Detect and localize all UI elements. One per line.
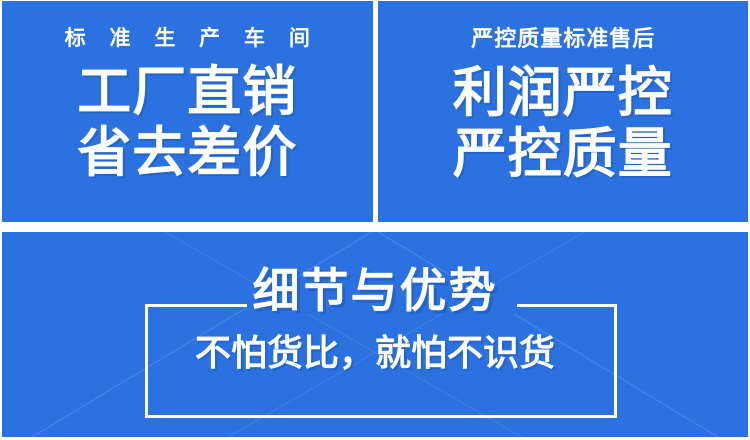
- panel-quality-control: 严控质量标准售后 利润严控 严控质量: [378, 1, 749, 222]
- left-panel-eyebrow: 标 准 生 产 车 间: [56, 28, 319, 49]
- left-panel-headline-line1: 工厂直销: [77, 65, 297, 120]
- promo-banner: 标 准 生 产 车 间 工厂直销 省去差价 严控质量标准售后 利润严控 严控质量…: [0, 0, 750, 440]
- left-panel-headline-line2: 省去差价: [77, 126, 297, 181]
- right-panel-headline-line1: 利润严控: [453, 66, 673, 121]
- panel-details-advantages: 细节与优势 不怕货比，就怕不识货: [2, 232, 748, 437]
- bottom-panel-title: 细节与优势: [2, 267, 748, 314]
- top-panel-row: 标 准 生 产 车 间 工厂直销 省去差价 严控质量标准售后 利润严控 严控质量: [2, 1, 748, 222]
- right-panel-eyebrow: 严控质量标准售后: [470, 28, 655, 50]
- bottom-panel-subtitle: 不怕货比，就怕不识货: [2, 335, 748, 371]
- panel-factory-direct: 标 准 生 产 车 间 工厂直销 省去差价: [2, 1, 373, 222]
- right-panel-headline-line2: 严控质量: [453, 127, 673, 182]
